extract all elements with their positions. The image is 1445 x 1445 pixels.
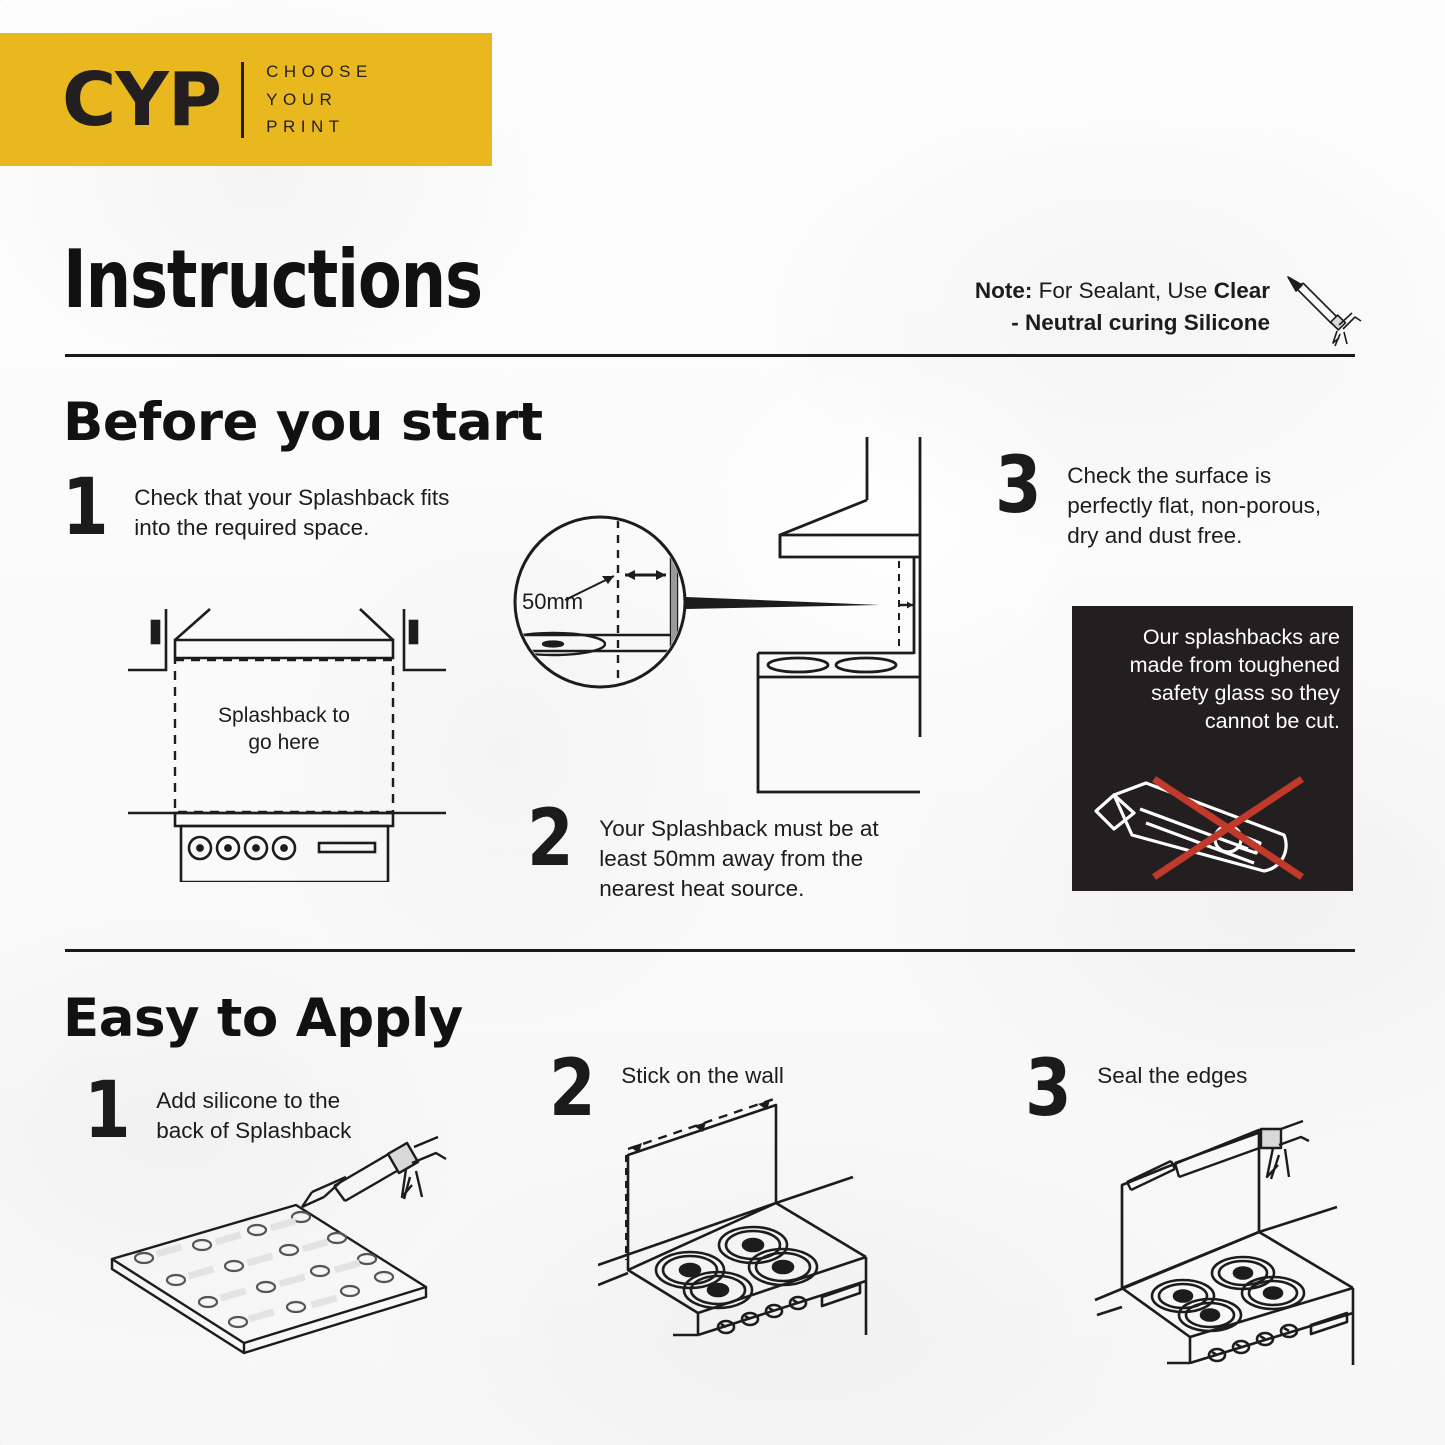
logo-divider [241,62,244,138]
warning-text: Our splashbacks are made from toughened … [1086,624,1340,736]
step-number: 3 [1025,1055,1072,1124]
section-heading-before-you-start: Before you start [63,392,543,453]
step-number: 2 [527,805,574,874]
step-number: 3 [995,452,1042,521]
note-line-2: - Neutral curing Silicone [1011,310,1270,335]
sealant-note: Note: For Sealant, Use Clear - Neutral c… [910,275,1270,339]
warning-box-cannot-be-cut: Our splashbacks are made from toughened … [1072,606,1353,891]
divider-bottom [65,949,1355,952]
section-heading-easy-to-apply: Easy to Apply [63,988,463,1049]
diagram-add-silicone [96,1135,466,1400]
diagram-label-line-1: Splashback to [218,704,350,727]
page-title: Instructions [63,240,482,320]
note-line-1-bold: Clear [1214,278,1270,303]
diagram-50mm-clearance: 50mm [508,437,960,812]
diagram-stick-on-wall [598,1085,1028,1390]
step-number: 1 [62,474,109,543]
brand-name: CYP [62,63,221,137]
step-3-before: 3 Check the surface is perfectly flat, n… [995,452,1322,551]
brand-tagline: CHOOSE YOUR PRINT [266,58,373,141]
tagline-line-2: YOUR [266,86,373,114]
tagline-line-1: CHOOSE [266,58,373,86]
note-prefix: Note: [975,278,1033,303]
step-text: Check that your Splashback fits into the… [134,474,454,543]
note-line-1: For Sealant, Use [1032,278,1213,303]
divider-top [65,354,1355,357]
step-number: 2 [549,1055,596,1124]
brand-logo: CYP CHOOSE YOUR PRINT [0,33,492,166]
step-text: Check the surface is perfectly flat, non… [1067,452,1322,551]
step-1-before: 1 Check that your Splashback fits into t… [62,474,454,543]
diagram-label-50mm: 50mm [522,589,583,614]
step-text: Your Splashback must be at least 50mm aw… [599,805,929,904]
diagram-label-line-2: go here [248,731,319,754]
step-2-before: 2 Your Splashback must be at least 50mm … [527,805,929,904]
diagram-seal-the-edges [1075,1085,1435,1420]
tagline-line-3: PRINT [266,113,373,141]
caulking-gun-icon [1277,268,1367,348]
crossed-out-utility-knife-icon [1088,773,1338,883]
diagram-splashback-fits: Splashback to go here [128,592,446,882]
